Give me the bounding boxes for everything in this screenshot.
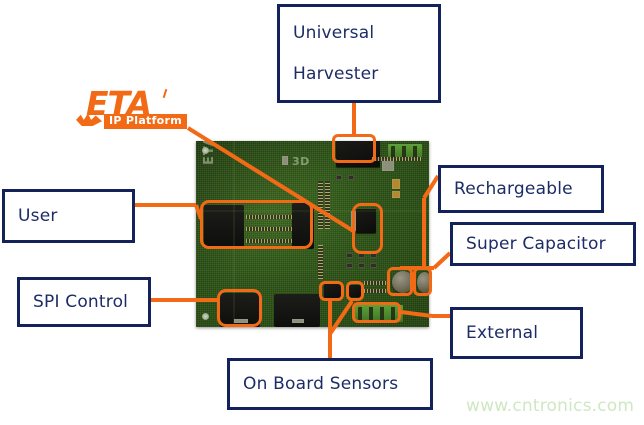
label-rechargeable[interactable]: Rechargeable: [438, 165, 604, 213]
label-external-text: External: [466, 320, 580, 346]
leader-super-capacitor-a: [434, 253, 450, 268]
smd-misc-4: [346, 263, 353, 268]
smd-misc-8: [348, 175, 354, 180]
label-universal-harvester[interactable]: Universal Harvester: [277, 4, 441, 103]
label-external[interactable]: External: [450, 307, 583, 359]
pin-header-vertical-c: [318, 245, 323, 279]
highlight-spi-control-connector: [217, 289, 262, 327]
mounting-hole-top-left: [202, 147, 209, 154]
smd-misc-5: [358, 263, 365, 268]
label-user-text: User: [18, 203, 132, 229]
highlight-external-terminal: [352, 302, 401, 323]
usb-connector-key: [292, 319, 304, 323]
label-universal-harvester-line-2: Harvester: [293, 61, 438, 87]
label-super-capacitor-text: Super Capacitor: [466, 231, 633, 257]
mounting-hole-bottom-left: [202, 313, 209, 320]
eta-logo: ETA IP Platform: [76, 88, 180, 134]
label-on-board-sensors[interactable]: On Board Sensors: [227, 358, 433, 410]
board-silkscreen-marking: 3D: [292, 155, 310, 168]
smd-inductor: [392, 179, 400, 189]
pin-header-vertical-a: [318, 181, 323, 229]
pin-row-sensor: [364, 281, 386, 285]
eta-tagline: IP Platform: [104, 114, 187, 129]
label-on-board-sensors-text: On Board Sensors: [243, 371, 430, 397]
site-watermark: www.cntronics.com: [466, 396, 634, 416]
label-user[interactable]: User: [2, 189, 135, 243]
highlight-power-ic: [352, 203, 383, 254]
highlight-universal-harvester: [332, 134, 376, 163]
highlight-super-capacitor: [387, 267, 413, 296]
smd-capacitor-a: [282, 156, 288, 165]
label-spi-control[interactable]: SPI Control: [17, 277, 151, 327]
highlight-rechargeable-cell: [413, 267, 432, 296]
label-spi-control-text: SPI Control: [33, 289, 148, 315]
label-rechargeable-text: Rechargeable: [454, 176, 601, 202]
pin-row-right-top: [372, 157, 422, 161]
highlight-on-board-sensor-2: [346, 281, 364, 301]
label-universal-harvester-line-1: Universal: [293, 20, 438, 46]
label-super-capacitor[interactable]: Super Capacitor: [450, 222, 636, 266]
highlight-on-board-sensor-1: [319, 281, 344, 301]
smd-misc-1: [346, 253, 353, 258]
smd-misc-7: [336, 175, 342, 180]
highlight-user-connectors: [200, 200, 313, 249]
pin-row-sensor-b: [364, 289, 386, 293]
eta-tick-icon: [163, 89, 168, 98]
smd-diode: [392, 191, 400, 198]
annotated-board-figure: ETA 3D: [0, 0, 644, 425]
pin-header-vertical-b: [325, 181, 330, 229]
smd-misc-6: [370, 263, 377, 268]
